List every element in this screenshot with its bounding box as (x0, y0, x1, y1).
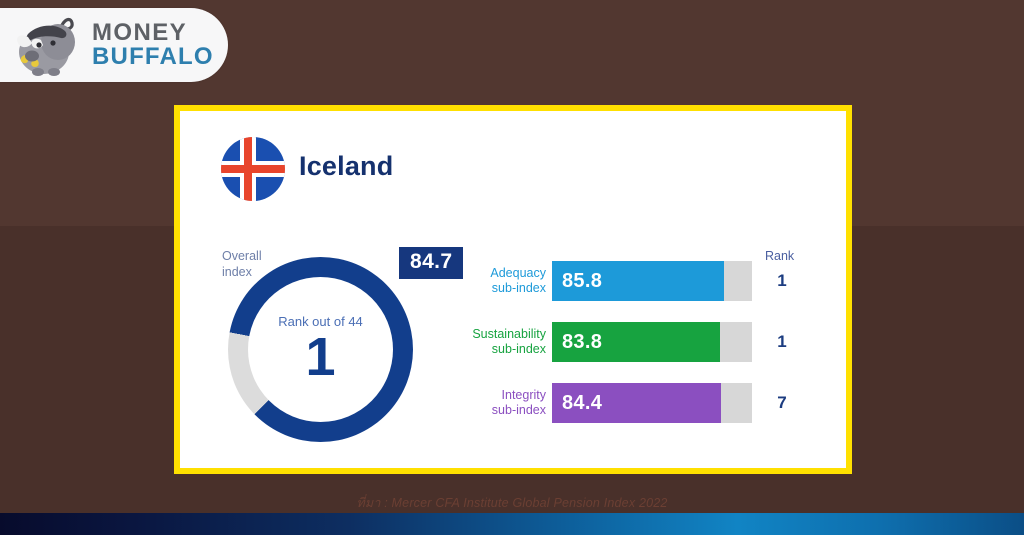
buffalo-icon (8, 12, 82, 78)
subindex-label-line2: sub-index (462, 403, 546, 418)
source-caption: ที่มา : Mercer CFA Institute Global Pens… (0, 493, 1024, 513)
subindex-bar-track: 84.4 (552, 383, 752, 423)
subindex-label-line2: sub-index (462, 342, 546, 357)
subindex-row-sustainability: Sustainability sub-index 83.8 1 (462, 322, 822, 362)
bottom-gradient-bar (0, 513, 1024, 535)
subindex-bar-fill: 85.8 (552, 261, 724, 301)
subindex-row-adequacy: Adequacy sub-index 85.8 1 (462, 261, 822, 301)
subindex-label-sustainability: Sustainability sub-index (462, 327, 552, 358)
iceland-flag-icon (221, 137, 285, 201)
subindex-value: 83.8 (552, 331, 602, 354)
brand-logo-text: MONEY BUFFALO (92, 21, 214, 70)
subindex-bar-track: 85.8 (552, 261, 752, 301)
subindex-bar-list: Adequacy sub-index 85.8 1 Sustainability… (462, 261, 822, 444)
subindex-label-line1: Adequacy (462, 266, 546, 281)
subindex-bar-fill: 84.4 (552, 383, 721, 423)
country-title: Iceland (299, 151, 393, 182)
screenshot-root: MONEY BUFFALO Iceland Overall index Ra (0, 0, 1024, 535)
subindex-rank: 1 (752, 332, 812, 352)
subindex-label-line2: sub-index (462, 281, 546, 296)
logo-line-buffalo: BUFFALO (92, 45, 214, 69)
subindex-label-line1: Sustainability (462, 327, 546, 342)
subindex-bar-track: 83.8 (552, 322, 752, 362)
subindex-bar-fill: 83.8 (552, 322, 720, 362)
card-inner: Iceland Overall index Rank out of 44 1 8… (180, 111, 846, 468)
subindex-label-adequacy: Adequacy sub-index (462, 266, 552, 297)
subindex-value: 85.8 (552, 270, 602, 293)
donut-rank-value: 1 (228, 329, 413, 386)
subindex-rank: 1 (752, 271, 812, 291)
subindex-label-line1: Integrity (462, 388, 546, 403)
overall-index-donut: Rank out of 44 1 (228, 257, 413, 442)
logo-line-money: MONEY (92, 21, 214, 45)
overall-score-badge: 84.7 (399, 247, 463, 279)
infographic-card: Iceland Overall index Rank out of 44 1 8… (174, 105, 852, 474)
subindex-value: 84.4 (552, 392, 602, 415)
subindex-rank: 7 (752, 393, 812, 413)
subindex-label-integrity: Integrity sub-index (462, 388, 552, 419)
subindex-row-integrity: Integrity sub-index 84.4 7 (462, 383, 822, 423)
brand-logo[interactable]: MONEY BUFFALO (0, 8, 228, 82)
